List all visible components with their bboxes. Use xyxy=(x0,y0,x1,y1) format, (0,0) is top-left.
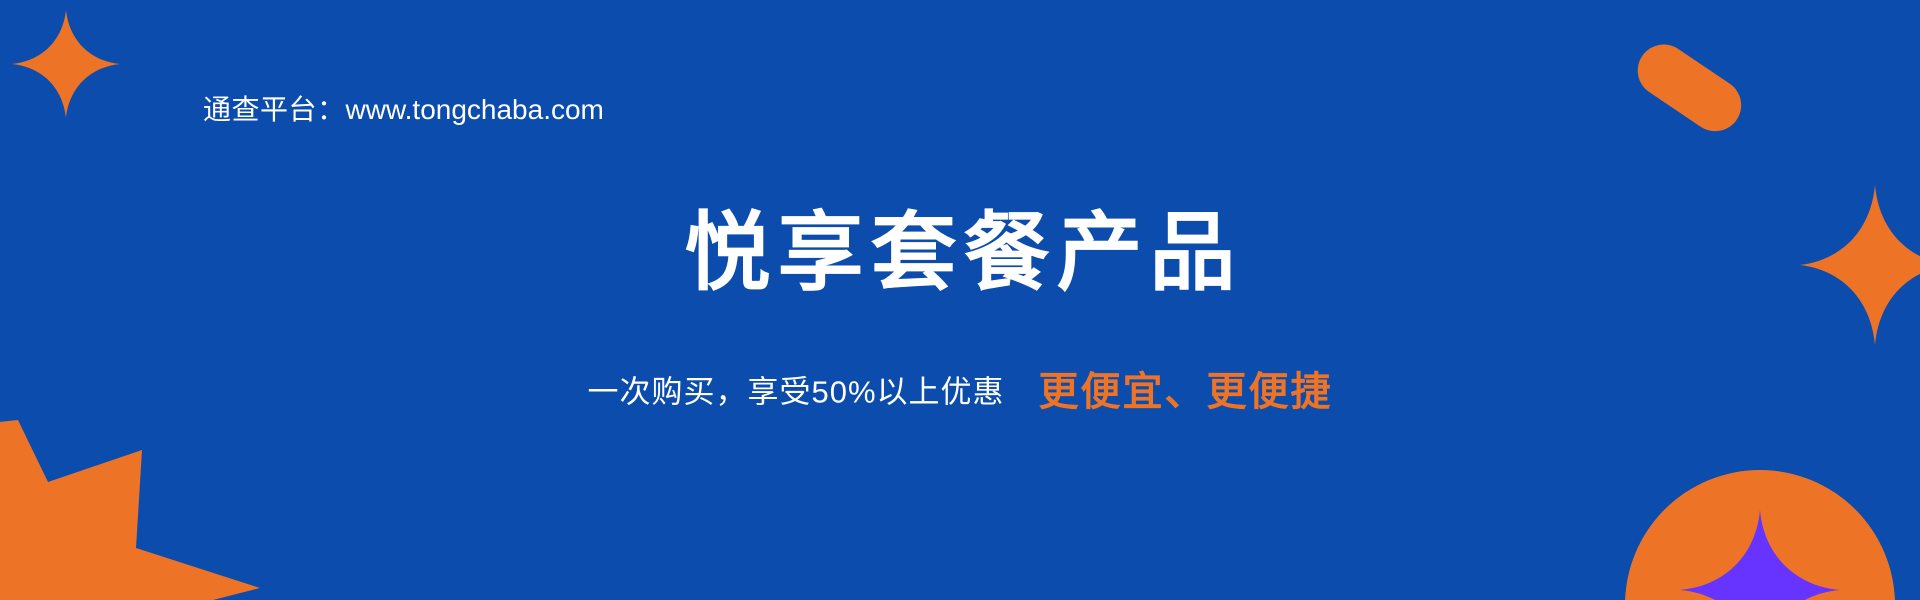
promo-banner: 通查平台：www.tongchaba.com 悦享套餐产品 一次购买，享受50%… xyxy=(0,0,1920,600)
subtitle-plain-text: 一次购买，享受50%以上优惠 xyxy=(587,375,1004,410)
subtitle-line: 一次购买，享受50%以上优惠更便宜、更便捷 xyxy=(0,372,1920,412)
platform-url-line: 通查平台：www.tongchaba.com xyxy=(203,88,604,128)
platform-url: www.tongchaba.com xyxy=(346,94,604,125)
platform-label: 通查平台： xyxy=(203,94,346,125)
subtitle-accent-text: 更便宜、更便捷 xyxy=(1039,370,1333,414)
page-title: 悦享套餐产品 xyxy=(0,210,1920,296)
content-layer: 通查平台：www.tongchaba.com 悦享套餐产品 一次购买，享受50%… xyxy=(0,0,1920,600)
